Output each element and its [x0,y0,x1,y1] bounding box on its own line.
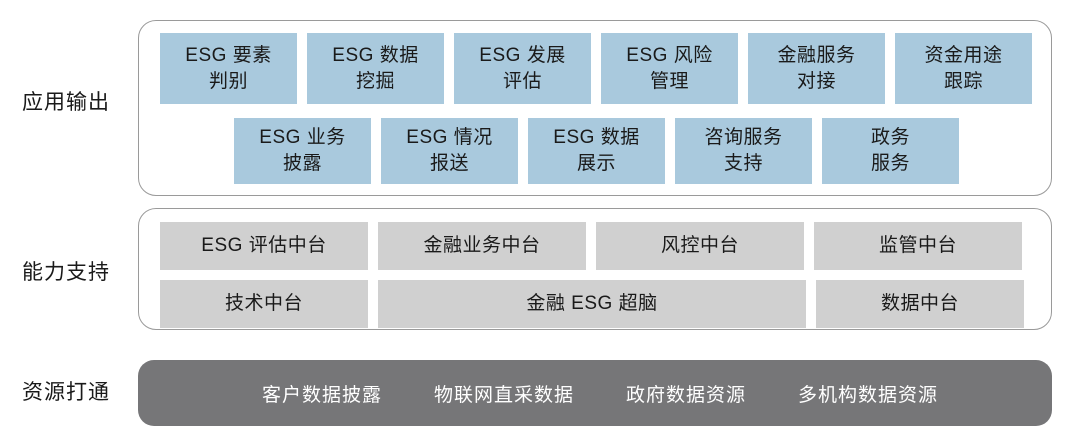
capability-chip[interactable]: 数据中台 [816,280,1024,328]
resource-integration-bar: 客户数据披露 物联网直采数据 政府数据资源 多机构数据资源 [138,360,1052,426]
resource-item[interactable]: 政府数据资源 [626,380,746,407]
row-label-application: 应用输出 [0,92,132,113]
application-chip[interactable]: ESG 数据 挖掘 [307,33,444,104]
capability-chip[interactable]: 监管中台 [814,222,1022,270]
application-chip[interactable]: 咨询服务 支持 [675,118,812,184]
capability-chip-row-1: ESG 评估中台 金融业务中台 风控中台 监管中台 [160,222,1022,270]
capability-chip-row-2: 技术中台 金融 ESG 超脑 数据中台 [160,280,1024,328]
capability-chip[interactable]: 技术中台 [160,280,368,328]
capability-chip[interactable]: 金融 ESG 超脑 [378,280,806,328]
application-chip[interactable]: ESG 风险 管理 [601,33,738,104]
application-chip[interactable]: ESG 数据 展示 [528,118,665,184]
application-chip[interactable]: 政务 服务 [822,118,959,184]
application-chip[interactable]: 资金用途 跟踪 [895,33,1032,104]
capability-chip[interactable]: ESG 评估中台 [160,222,368,270]
row-label-resource: 资源打通 [0,382,132,403]
application-chip[interactable]: ESG 要素 判别 [160,33,297,104]
application-chip-row-1: ESG 要素 判别 ESG 数据 挖掘 ESG 发展 评估 ESG 风险 管理 … [160,33,1032,104]
application-chip[interactable]: ESG 发展 评估 [454,33,591,104]
application-chip[interactable]: ESG 情况 报送 [381,118,518,184]
resource-item[interactable]: 客户数据披露 [262,380,382,407]
capability-chip[interactable]: 风控中台 [596,222,804,270]
application-chip[interactable]: ESG 业务 披露 [234,118,371,184]
application-chip[interactable]: 金融服务 对接 [748,33,885,104]
architecture-diagram: 应用输出 能力支持 资源打通 ESG 要素 判别 ESG 数据 挖掘 ESG 发… [0,0,1080,447]
resource-item[interactable]: 多机构数据资源 [798,380,938,407]
resource-item[interactable]: 物联网直采数据 [434,380,574,407]
row-label-capability: 能力支持 [0,262,132,283]
capability-chip[interactable]: 金融业务中台 [378,222,586,270]
application-chip-row-2: ESG 业务 披露 ESG 情况 报送 ESG 数据 展示 咨询服务 支持 政务… [234,118,959,184]
